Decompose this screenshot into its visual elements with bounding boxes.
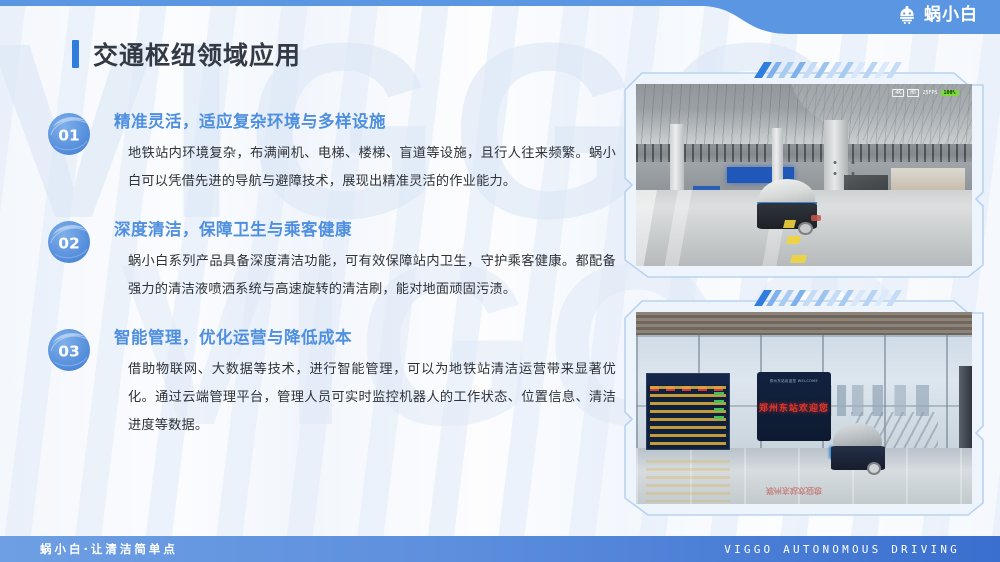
list-item: 03 智能管理，优化运营与降低成本 借助物联网、大数据等技术，进行智能管理，可以…	[46, 324, 616, 440]
stripe-decoration-bottom	[752, 290, 912, 306]
list-item-heading: 深度清洁，保障卫生与乘客健康	[114, 216, 616, 240]
number-badge-02: 02	[46, 219, 92, 265]
list-item-body: 精准灵活，适应复杂环境与多样设施 地铁站内环境复杂，布满闸机、电梯、楼梯、盲道等…	[114, 108, 616, 196]
photo-frame-bottom: 郑州东站欢迎您 WELCOME 郑州东站欢迎您 郑州东站欢迎您	[624, 300, 984, 516]
photo-frame-top: 4K HD 25FPS 100%	[624, 72, 984, 278]
svg-text:02: 02	[58, 235, 80, 253]
number-badge-03: 03	[46, 327, 92, 373]
header-bar	[0, 0, 1000, 32]
photo-sign-text: 郑州东站欢迎您	[757, 401, 831, 414]
content-list: 01 精准灵活，适应复杂环境与多样设施 地铁站内环境复杂，布满闸机、电梯、楼梯、…	[46, 108, 616, 440]
slide-root: VIGGO VIGGO 蜗小白 交通枢纽领域应用	[0, 0, 1000, 562]
photo-hud-overlay: 4K HD 25FPS 100%	[892, 89, 958, 97]
hud-battery: 100%	[941, 90, 959, 96]
robot-logo-icon	[896, 4, 918, 26]
list-item-heading: 精准灵活，适应复杂环境与多样设施	[114, 108, 616, 132]
logo-text: 蜗小白	[924, 4, 978, 26]
brand-logo: 蜗小白	[896, 4, 978, 26]
footer-slogan: 蜗小白·让清洁简单点	[40, 541, 178, 557]
title-accent-bar	[72, 40, 79, 68]
footer-bar: 蜗小白·让清洁简单点 VIGGO AUTONOMOUS DRIVING	[0, 536, 1000, 562]
hud-fps: 25FPS	[922, 90, 937, 96]
number-badge-01: 01	[46, 111, 92, 157]
list-item-body: 智能管理，优化运营与降低成本 借助物联网、大数据等技术，进行智能管理，可以为地铁…	[114, 324, 616, 440]
list-item-body: 深度清洁，保障卫生与乘客健康 蜗小白系列产品具备深度清洁功能，可有效保障站内卫生…	[114, 216, 616, 304]
svg-text:03: 03	[58, 343, 80, 361]
photo-bottom-image: 郑州东站欢迎您 WELCOME 郑州东站欢迎您 郑州东站欢迎您	[636, 312, 972, 504]
photo-sign-subtext: 郑州东站欢迎您 WELCOME	[757, 378, 831, 383]
list-item-heading: 智能管理，优化运营与降低成本	[114, 324, 616, 348]
hud-label-1: 4K	[892, 89, 904, 97]
photo-sign-reflection: 郑州东站欢迎您	[757, 469, 831, 496]
page-title-row: 交通枢纽领域应用	[72, 36, 301, 72]
list-item: 01 精准灵活，适应复杂环境与多样设施 地铁站内环境复杂，布满闸机、电梯、楼梯、…	[46, 108, 616, 196]
list-item-text: 地铁站内环境复杂，布满闸机、电梯、楼梯、盲道等设施，且行人往来频繁。蜗小白可以凭…	[114, 140, 616, 196]
hud-label-2: HD	[907, 89, 919, 97]
page-title: 交通枢纽领域应用	[93, 36, 301, 72]
list-item: 02 深度清洁，保障卫生与乘客健康 蜗小白系列产品具备深度清洁功能，可有效保障站…	[46, 216, 616, 304]
list-item-text: 蜗小白系列产品具备深度清洁功能，可有效保障站内卫生，守护乘客健康。都配备强力的清…	[114, 248, 616, 304]
svg-text:01: 01	[58, 127, 80, 145]
stripe-decoration-top	[752, 62, 912, 78]
photo-top-image: 4K HD 25FPS 100%	[636, 84, 972, 266]
list-item-text: 借助物联网、大数据等技术，进行智能管理，可以为地铁站清洁运营带来显著优化。通过云…	[114, 356, 616, 440]
footer-brand-en: VIGGO AUTONOMOUS DRIVING	[724, 543, 960, 556]
